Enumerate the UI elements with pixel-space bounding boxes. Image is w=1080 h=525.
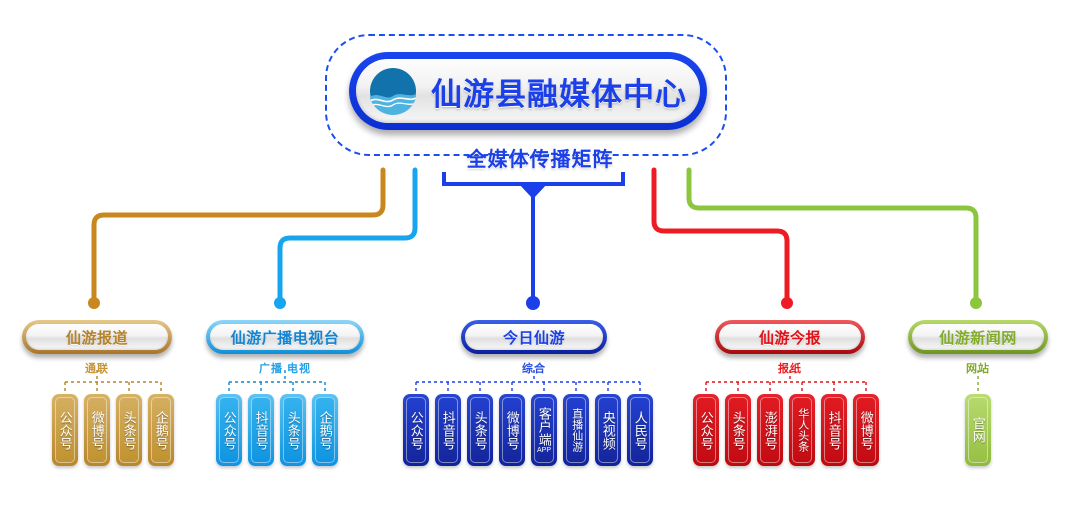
branch-items: 官网 — [965, 394, 991, 466]
root-node[interactable]: 仙游县融媒体中心 — [325, 34, 727, 156]
wire-green-dot — [970, 297, 982, 309]
platform-chip-label: 公众号 — [58, 411, 72, 450]
platform-chip[interactable]: 头条号 — [725, 394, 751, 466]
platform-chip[interactable]: 微博号 — [853, 394, 879, 466]
platform-chip-label: 企鹅号 — [154, 411, 168, 450]
platform-chip-label: 直播仙游 — [570, 408, 581, 452]
platform-chip[interactable]: 客户端APP — [531, 394, 557, 466]
branch-2: 仙游广播电视台广播 电视公众号抖音号头条号企鹅号 — [206, 320, 364, 376]
wire-cyan — [280, 170, 415, 303]
platform-chip-label: 头条号 — [122, 411, 136, 450]
platform-chip-label: 抖音号 — [827, 411, 841, 450]
platform-chip[interactable]: 公众号 — [403, 394, 429, 466]
platform-chip-label: 头条号 — [731, 411, 745, 450]
diagram-canvas: 仙游县融媒体中心 全媒体传播矩阵 仙游报道通联公众号微博号头条号企鹅号仙游广播电… — [0, 0, 1080, 525]
wire-cyan-dot — [274, 297, 286, 309]
platform-chip[interactable]: 公众号 — [216, 394, 242, 466]
platform-chip-label: 抖音号 — [254, 411, 268, 450]
branch-1: 仙游报道通联公众号微博号头条号企鹅号 — [22, 320, 172, 376]
platform-chip-label: 人民号 — [633, 411, 647, 450]
platform-chip-label: 微博号 — [859, 411, 873, 450]
root-pill[interactable]: 仙游县融媒体中心 — [349, 52, 707, 130]
item-tree-connector — [633, 370, 939, 396]
platform-chip-label: 官网 — [971, 417, 985, 443]
branch-title: 仙游广播电视台 — [231, 327, 340, 348]
platform-chip-label: 公众号 — [222, 411, 236, 450]
platform-chip[interactable]: 人民号 — [627, 394, 653, 466]
root-title: 仙游县融媒体中心 — [431, 69, 687, 114]
branch-title: 仙游新闻网 — [939, 327, 1017, 348]
platform-chip-label: 央视频 — [601, 411, 615, 450]
branch-title: 今日仙游 — [503, 327, 565, 348]
platform-chip[interactable]: 公众号 — [693, 394, 719, 466]
platform-chip[interactable]: 央视频 — [595, 394, 621, 466]
platform-chip-label: 客户端 — [537, 407, 551, 446]
platform-chip-label: 华人头条 — [796, 408, 807, 452]
matrix-label: 全媒体传播矩阵 — [0, 143, 1080, 172]
branch-title: 仙游报道 — [66, 327, 128, 348]
wire-red-dot — [781, 297, 793, 309]
platform-chip-label: 头条号 — [286, 411, 300, 450]
platform-chip[interactable]: 澎湃号 — [757, 394, 783, 466]
branch-items: 公众号微博号头条号企鹅号 — [52, 394, 174, 466]
branch-items: 公众号头条号澎湃号华人头条抖音号微博号 — [693, 394, 879, 466]
platform-chip[interactable]: 企鹅号 — [148, 394, 174, 466]
wire-gold — [94, 170, 383, 303]
branch-title: 仙游今报 — [759, 327, 821, 348]
platform-chip[interactable]: 抖音号 — [435, 394, 461, 466]
wave-circle-logo-icon — [369, 67, 417, 115]
platform-chip-sublabel: APP — [537, 447, 551, 454]
branch-4: 仙游今报报纸公众号头条号澎湃号华人头条抖音号微博号 — [715, 320, 865, 376]
wire-blue-dot — [526, 296, 540, 310]
branch-pill[interactable]: 仙游报道 — [22, 320, 172, 354]
item-tree-connector — [905, 370, 1080, 396]
wire-gold-dot — [88, 297, 100, 309]
branch-pill[interactable]: 仙游新闻网 — [908, 320, 1048, 354]
platform-chip[interactable]: 头条号 — [116, 394, 142, 466]
platform-chip[interactable]: 企鹅号 — [312, 394, 338, 466]
platform-chip-label: 澎湃号 — [763, 411, 777, 450]
platform-chip[interactable]: 头条号 — [467, 394, 493, 466]
wire-blue-arrow — [518, 183, 548, 199]
platform-chip-label: 抖音号 — [441, 411, 455, 450]
platform-chip-label: 公众号 — [409, 411, 423, 450]
branch-pill[interactable]: 仙游广播电视台 — [206, 320, 364, 354]
platform-chip-label: 头条号 — [473, 411, 487, 450]
wire-blue-bracket — [444, 172, 623, 184]
platform-chip[interactable]: 公众号 — [52, 394, 78, 466]
platform-chip[interactable]: 官网 — [965, 394, 991, 466]
wire-red — [654, 170, 787, 303]
branch-pill[interactable]: 仙游今报 — [715, 320, 865, 354]
platform-chip-label: 企鹅号 — [318, 411, 332, 450]
platform-chip[interactable]: 抖音号 — [248, 394, 274, 466]
platform-chip-label: 公众号 — [699, 411, 713, 450]
platform-chip[interactable]: 直播仙游 — [563, 394, 589, 466]
branch-items: 公众号抖音号头条号微博号客户端APP直播仙游央视频人民号 — [403, 394, 653, 466]
platform-chip[interactable]: 抖音号 — [821, 394, 847, 466]
platform-chip[interactable]: 华人头条 — [789, 394, 815, 466]
platform-chip[interactable]: 头条号 — [280, 394, 306, 466]
branch-5: 仙游新闻网网站官网 — [908, 320, 1048, 376]
platform-chip[interactable]: 微博号 — [499, 394, 525, 466]
platform-chip-label: 微博号 — [505, 411, 519, 450]
branch-items: 公众号抖音号头条号企鹅号 — [216, 394, 338, 466]
wire-green — [689, 170, 976, 303]
branch-3: 今日仙游综合公众号抖音号头条号微博号客户端APP直播仙游央视频人民号 — [461, 320, 607, 376]
platform-chip[interactable]: 微博号 — [84, 394, 110, 466]
branch-pill[interactable]: 今日仙游 — [461, 320, 607, 354]
platform-chip-label: 微博号 — [90, 411, 104, 450]
